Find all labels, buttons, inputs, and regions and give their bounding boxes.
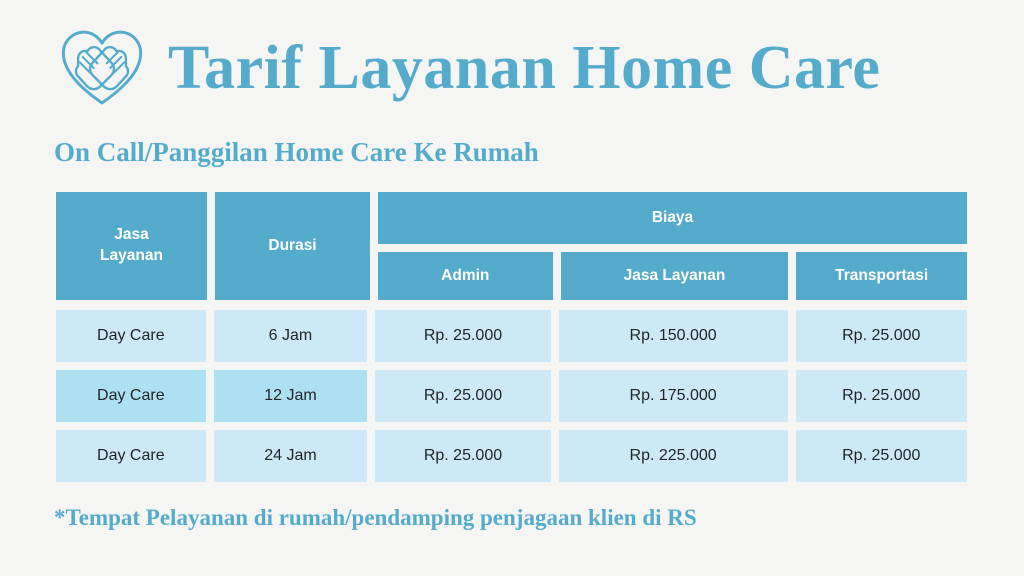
cell-admin: Rp. 25.000 <box>375 310 550 362</box>
column-header-duration: Durasi <box>215 192 370 300</box>
footnote: *Tempat Pelayanan di rumah/pendamping pe… <box>54 505 697 531</box>
cell-admin: Rp. 25.000 <box>375 370 550 422</box>
cell-duration: 12 Jam <box>214 370 368 422</box>
page-title: Tarif Layanan Home Care <box>168 37 880 99</box>
cell-service: Day Care <box>56 430 206 482</box>
column-header-service-line2: Layanan <box>100 246 163 267</box>
table-header-row: Jasa Layanan Durasi Biaya Admin Jasa Lay… <box>56 192 967 300</box>
table-row: Day Care 24 Jam Rp. 25.000 Rp. 225.000 R… <box>56 430 967 482</box>
cell-transport: Rp. 25.000 <box>796 370 967 422</box>
cell-transport: Rp. 25.000 <box>796 310 967 362</box>
cell-service-fee: Rp. 225.000 <box>559 430 788 482</box>
cell-transport: Rp. 25.000 <box>796 430 967 482</box>
rate-table: Jasa Layanan Durasi Biaya Admin Jasa Lay… <box>56 192 967 482</box>
cell-duration: 6 Jam <box>214 310 368 362</box>
column-header-admin: Admin <box>378 252 553 300</box>
cell-duration: 24 Jam <box>214 430 368 482</box>
column-subheader-row: Admin Jasa Layanan Transportasi <box>378 252 967 300</box>
column-header-cost-group: Biaya Admin Jasa Layanan Transportasi <box>378 192 967 300</box>
column-header-service: Jasa Layanan <box>56 192 207 300</box>
heart-caring-hands-icon <box>56 22 148 114</box>
cell-service: Day Care <box>56 310 206 362</box>
column-header-service-line1: Jasa <box>100 225 163 246</box>
table-row: Day Care 6 Jam Rp. 25.000 Rp. 150.000 Rp… <box>56 310 967 362</box>
cell-service-fee: Rp. 175.000 <box>559 370 788 422</box>
cell-admin: Rp. 25.000 <box>375 430 550 482</box>
column-header-transport: Transportasi <box>796 252 967 300</box>
table-row: Day Care 12 Jam Rp. 25.000 Rp. 175.000 R… <box>56 370 967 422</box>
cell-service-fee: Rp. 150.000 <box>559 310 788 362</box>
column-header-cost: Biaya <box>378 192 967 244</box>
column-header-service-fee: Jasa Layanan <box>561 252 789 300</box>
page-header: Tarif Layanan Home Care <box>56 22 880 114</box>
cell-service: Day Care <box>56 370 206 422</box>
table-body: Day Care 6 Jam Rp. 25.000 Rp. 150.000 Rp… <box>56 310 967 482</box>
section-subtitle: On Call/Panggilan Home Care Ke Rumah <box>54 137 539 168</box>
